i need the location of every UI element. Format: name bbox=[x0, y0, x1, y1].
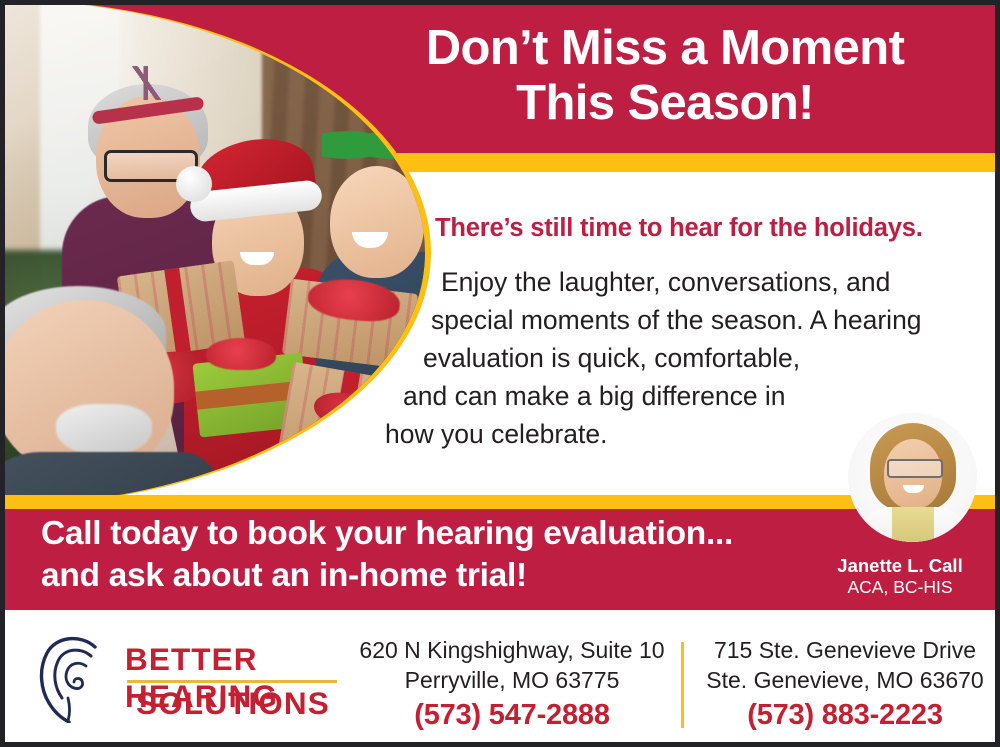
body-line: evaluation is quick, comfortable, bbox=[365, 339, 955, 377]
photo-reindeer-headband bbox=[118, 66, 176, 100]
location-ste-genevieve: 715 Ste. Genevieve Drive Ste. Genevieve,… bbox=[695, 635, 995, 732]
body-line: and can make a big difference in bbox=[365, 377, 955, 415]
cta-text: Call today to book your hearing evaluati… bbox=[41, 513, 733, 597]
location-street: 715 Ste. Genevieve Drive bbox=[695, 635, 995, 665]
practitioner-name: Janette L. Call bbox=[805, 555, 995, 577]
logo-divider-rule bbox=[127, 680, 337, 683]
location-city: Ste. Genevieve, MO 63670 bbox=[695, 665, 995, 695]
headline-line-2: This Season! bbox=[516, 76, 814, 130]
photo-girl2-head bbox=[330, 166, 424, 278]
headline-line-1: Don’t Miss a Moment bbox=[426, 21, 905, 75]
family-holiday-photo bbox=[0, 0, 425, 505]
footer-vertical-divider bbox=[681, 642, 684, 728]
subheadline: There’s still time to hear for the holid… bbox=[435, 214, 923, 243]
cta-line-1: Call today to book your hearing evaluati… bbox=[41, 513, 733, 555]
ear-icon bbox=[37, 635, 115, 723]
photo-background bbox=[0, 0, 425, 505]
photo-grandfather-beard bbox=[56, 404, 152, 456]
logo-line-2: SOLUTIONS bbox=[127, 685, 339, 722]
location-street: 620 N Kingshighway, Suite 10 bbox=[353, 635, 671, 665]
advertisement: Don’t Miss a Moment This Season! bbox=[0, 0, 1000, 747]
company-logo: BETTER HEARING SOLUTIONS bbox=[35, 633, 345, 725]
cta-line-2: and ask about an in-home trial! bbox=[41, 555, 733, 597]
photo-santa-hat-pom bbox=[176, 166, 212, 202]
cta-gold-strip bbox=[5, 495, 995, 509]
avatar-glasses bbox=[887, 459, 943, 478]
practitioner-avatar bbox=[848, 413, 977, 542]
ad-canvas: Don’t Miss a Moment This Season! bbox=[5, 5, 995, 742]
photo-gift-ribbon bbox=[164, 268, 191, 353]
practitioner-credentials: ACA, BC-HIS bbox=[805, 577, 995, 598]
avatar-scarf bbox=[892, 507, 934, 542]
body-line: Enjoy the laughter, conversations, and bbox=[365, 263, 955, 301]
location-phone[interactable]: (573) 547-2888 bbox=[353, 699, 671, 732]
headline: Don’t Miss a Moment This Season! bbox=[335, 21, 995, 132]
photo-green-bow-headband bbox=[322, 122, 418, 168]
location-phone[interactable]: (573) 883-2223 bbox=[695, 699, 995, 732]
location-city: Perryville, MO 63775 bbox=[353, 665, 671, 695]
photo-gift-tissue bbox=[206, 338, 276, 370]
body-line: special moments of the season. A hearing bbox=[365, 301, 955, 339]
location-perryville: 620 N Kingshighway, Suite 10 Perryville,… bbox=[353, 635, 671, 732]
